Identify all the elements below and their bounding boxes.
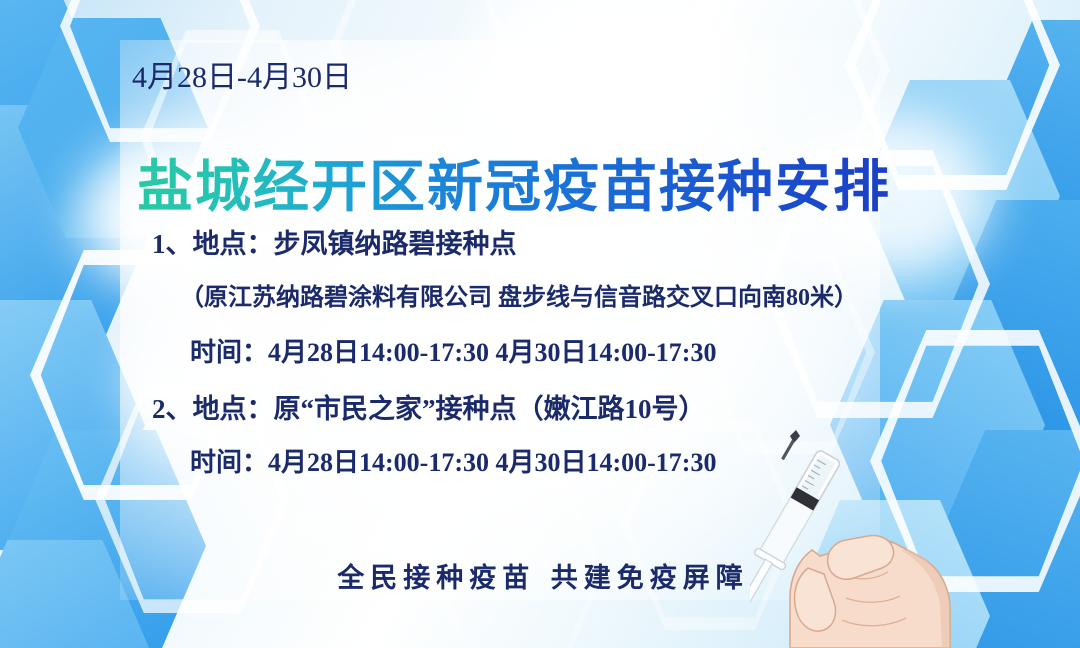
poster-content: 4月28日-4月30日 盐城经开区新冠疫苗接种安排 1、地点：步凤镇纳路碧接种点… [0, 0, 1080, 648]
entry-1-place: 1、地点：步凤镇纳路碧接种点 [152, 222, 517, 261]
vaccination-schedule-poster: 4月28日-4月30日 盐城经开区新冠疫苗接种安排 1、地点：步凤镇纳路碧接种点… [0, 0, 1080, 648]
entry-2-time: 时间：4月28日14:00-17:30 4月30日14:00-17:30 [190, 442, 716, 479]
slogan: 全民接种疫苗 共建免疫屏障 [0, 556, 1080, 595]
entry-2-place: 2、地点：原“市民之家”接种点（嫩江路10号） [152, 387, 706, 426]
date-range: 4月28日-4月30日 [132, 52, 352, 96]
entry-1-time: 时间：4月28日14:00-17:30 4月30日14:00-17:30 [190, 332, 716, 369]
entry-1-address-note: （原江苏纳路碧涂料有限公司 盘步线与信音路交叉口向南80米） [180, 277, 858, 312]
page-title: 盐城经开区新冠疫苗接种安排 [137, 142, 891, 223]
